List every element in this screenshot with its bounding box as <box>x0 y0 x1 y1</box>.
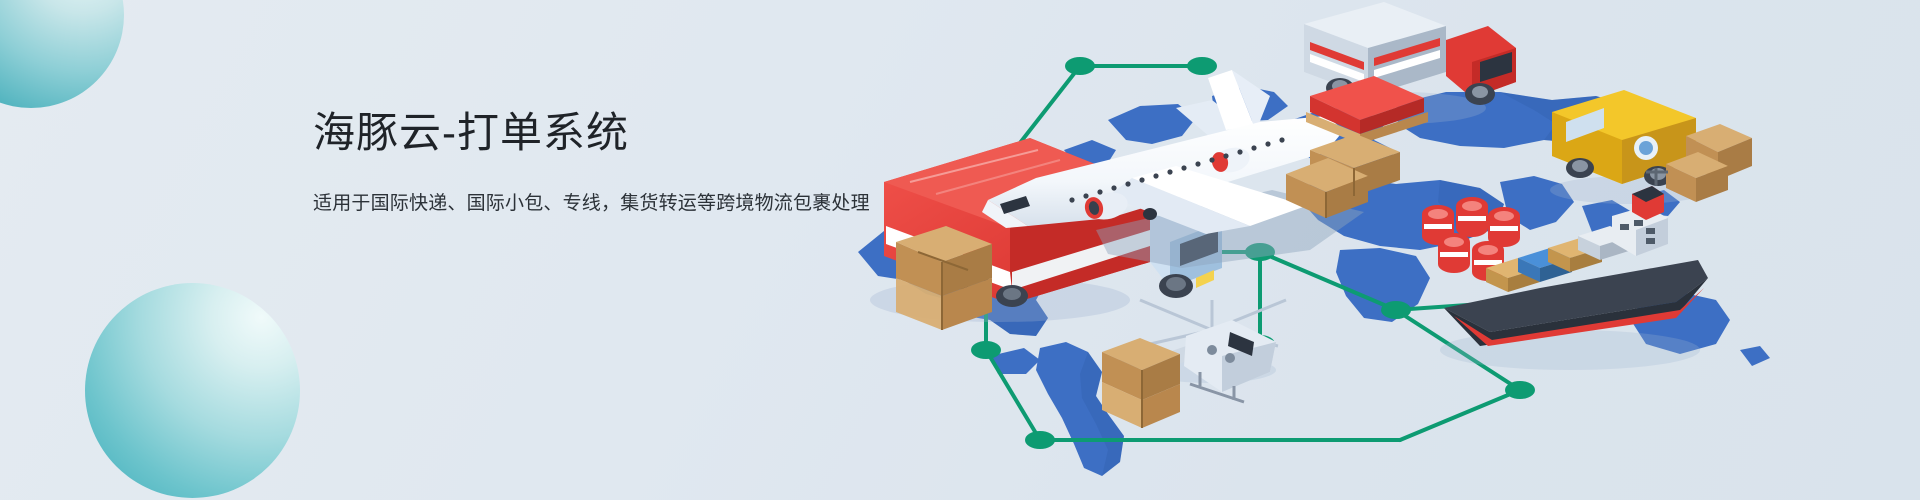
logistics-illustration <box>840 0 1920 500</box>
cardboard-boxes <box>896 226 992 330</box>
decorative-circle-top-left <box>0 0 124 108</box>
cardboard-boxes-bottom <box>1102 338 1180 428</box>
decorative-circle-bottom-left <box>85 283 300 498</box>
hero-banner: 海豚云-打单系统 适用于国际快递、国际小包、专线，集货转运等跨境物流包裹处理 <box>0 0 1920 500</box>
